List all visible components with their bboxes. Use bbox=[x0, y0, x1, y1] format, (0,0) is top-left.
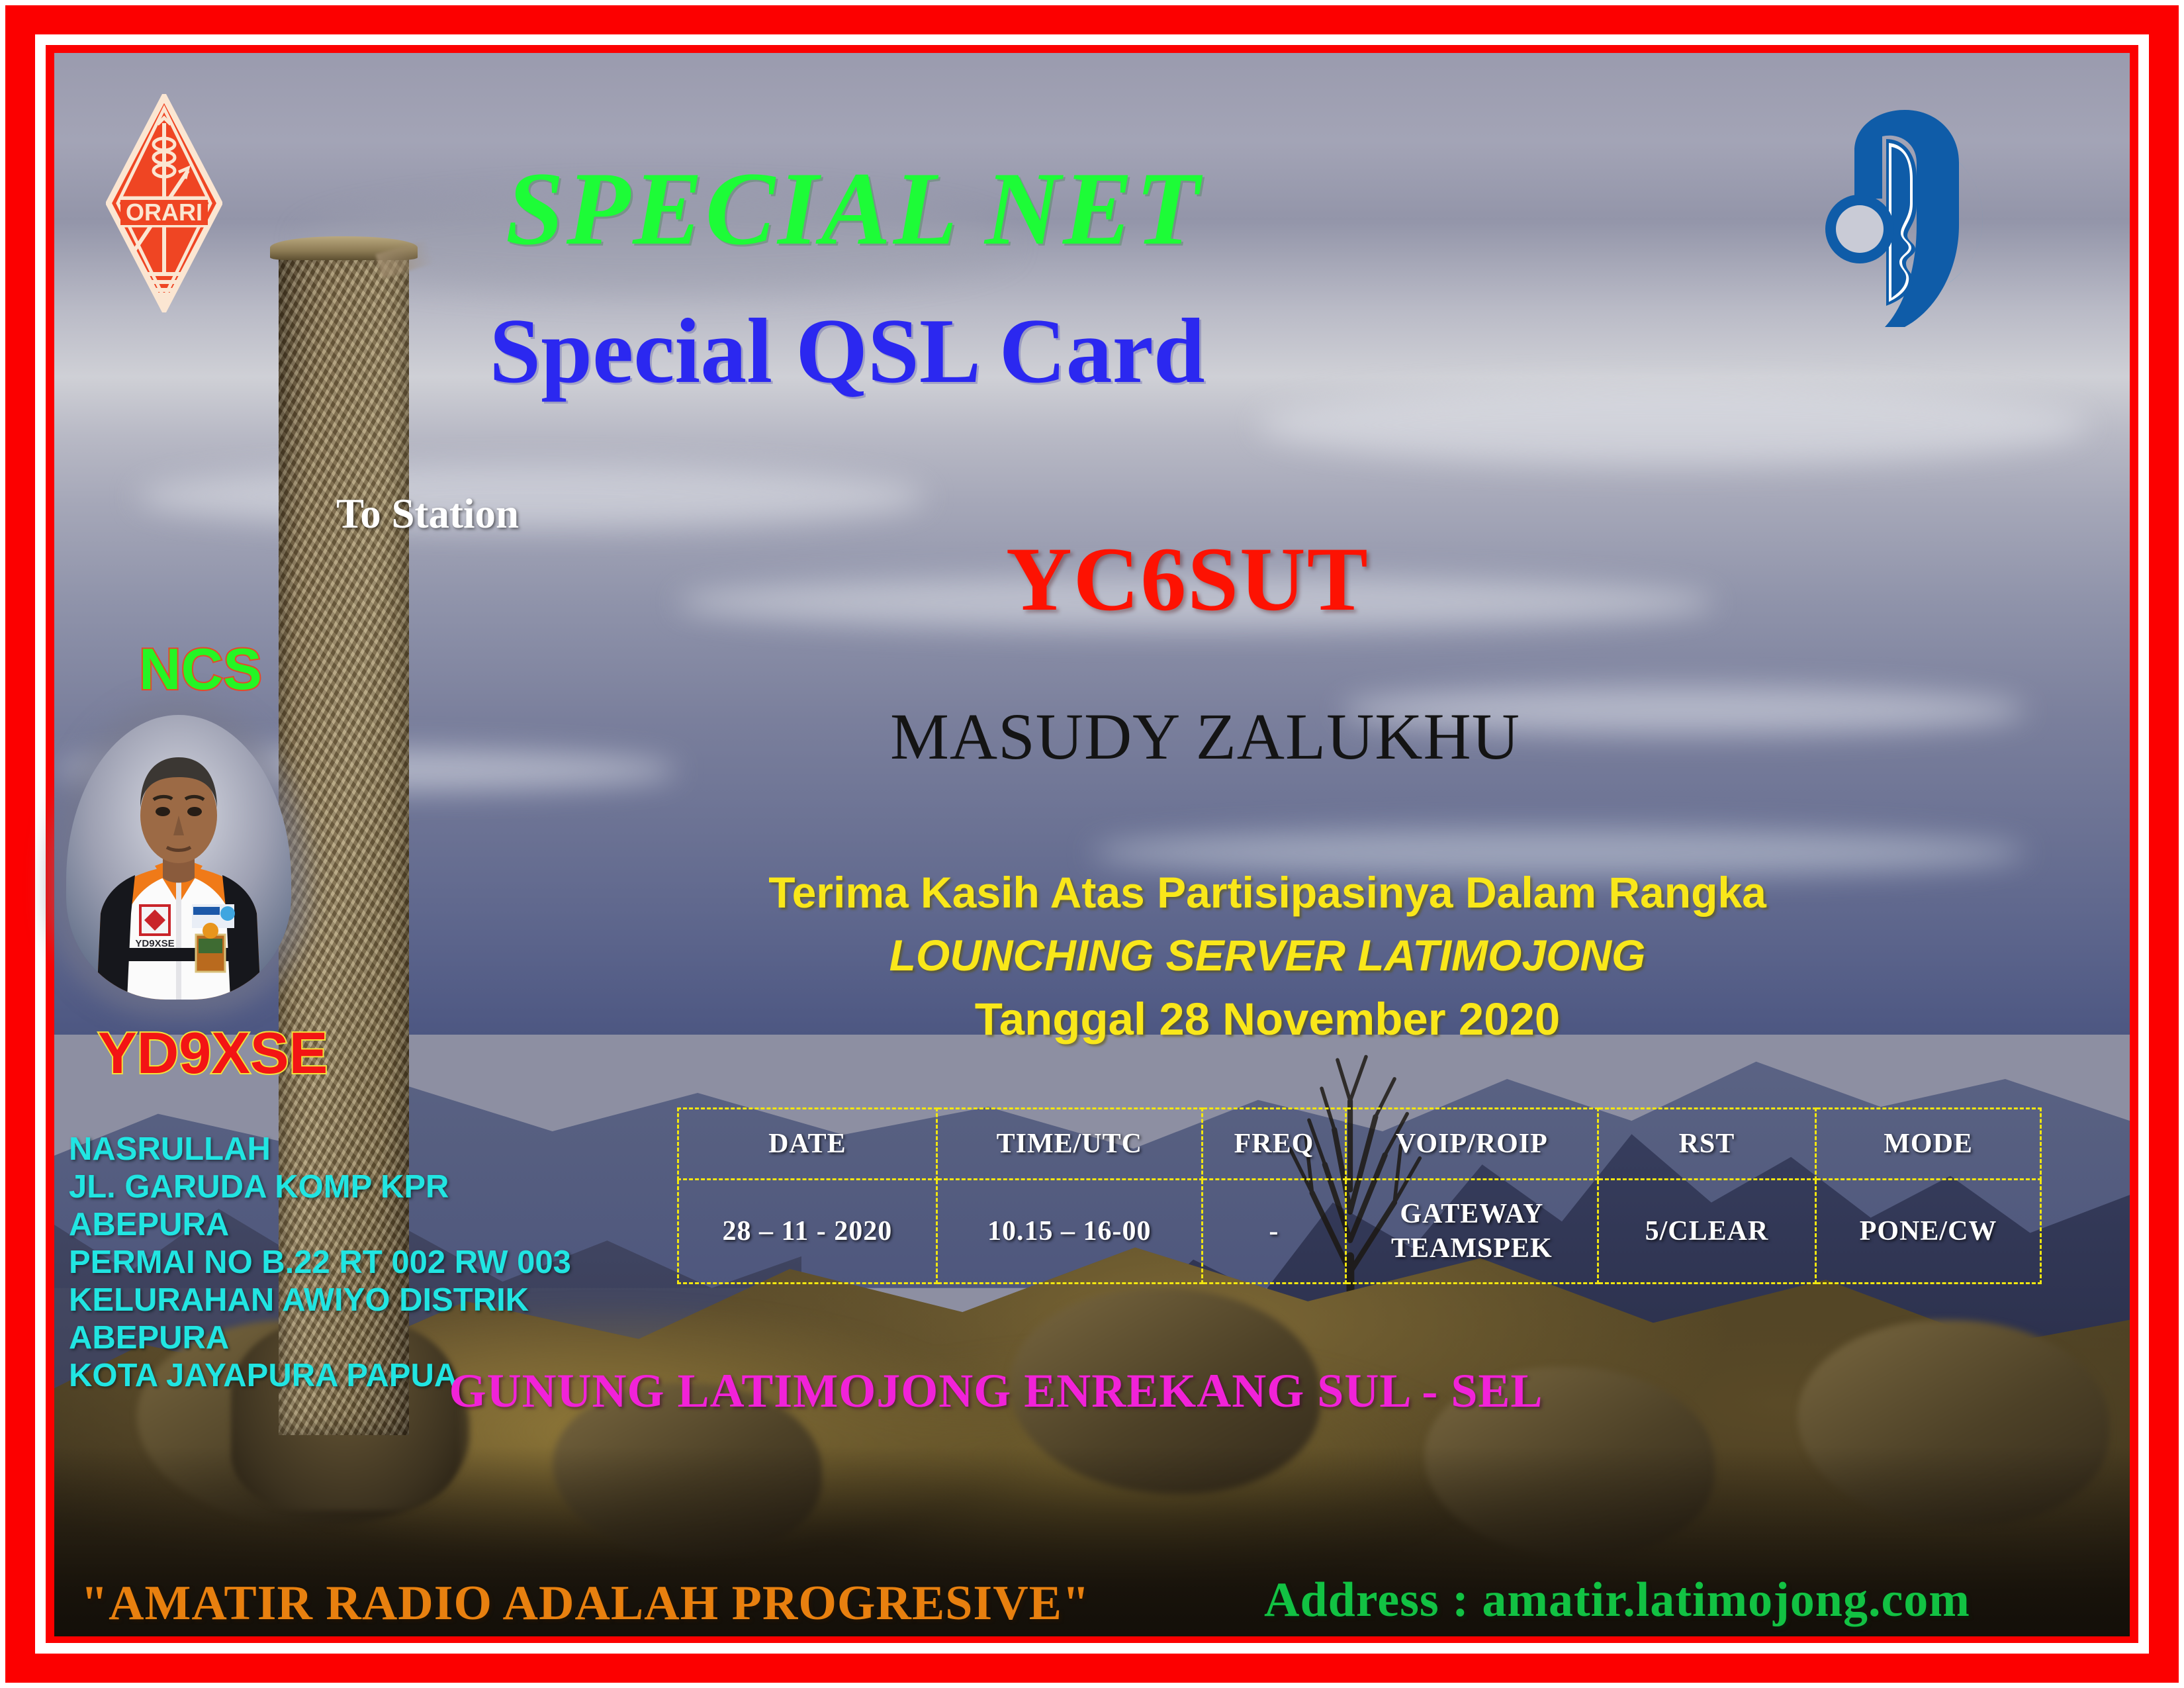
cell-voip-roip: GATEWAY TEAMSPEK bbox=[1346, 1180, 1598, 1284]
to-station-label: To Station bbox=[336, 490, 519, 538]
column-header-date: DATE bbox=[678, 1109, 937, 1180]
table-row: 28 – 11 - 2020 10.15 – 16-00 - GATEWAY T… bbox=[678, 1180, 2041, 1284]
address-line: PERMAI NO B.22 RT 002 RW 003 bbox=[69, 1244, 571, 1282]
address-line: NASRULLAH bbox=[69, 1131, 571, 1168]
event-date-line: Tanggal 28 November 2020 bbox=[175, 993, 2184, 1045]
address-line: JL. GARUDA KOMP KPR bbox=[69, 1168, 571, 1206]
cell-date: 28 – 11 - 2020 bbox=[678, 1180, 937, 1284]
ncs-label: NCS bbox=[139, 635, 262, 703]
column-header-freq: FREQ bbox=[1202, 1109, 1345, 1180]
cell-freq: - bbox=[1202, 1180, 1345, 1284]
address-line: ABEPURA bbox=[69, 1206, 571, 1244]
column-header-voip-roip: VOIP/ROIP bbox=[1346, 1109, 1598, 1180]
column-header-mode: MODE bbox=[1816, 1109, 2041, 1180]
cell-voip-roip-line1: GATEWAY bbox=[1400, 1199, 1543, 1229]
footer-website: Address : amatir.latimojong.com bbox=[1264, 1572, 1970, 1628]
qsl-card: ORARI bbox=[0, 0, 2184, 1688]
cell-time-utc: 10.15 – 16-00 bbox=[936, 1180, 1202, 1284]
table-header-row: DATE TIME/UTC FREQ VOIP/ROIP RST MODE bbox=[678, 1109, 2041, 1180]
cell-voip-roip-line2: TEAMSPEK bbox=[1391, 1233, 1553, 1264]
cloud-streak bbox=[137, 465, 926, 528]
address-line: ABEPURA bbox=[69, 1319, 571, 1357]
operator-name: MASUDY ZALUKHU bbox=[890, 698, 1520, 774]
page-subtitle: Special QSL Card bbox=[0, 298, 1939, 404]
cell-rst: 5/CLEAR bbox=[1598, 1180, 1816, 1284]
qso-log-table: DATE TIME/UTC FREQ VOIP/ROIP RST MODE 28… bbox=[677, 1107, 2042, 1284]
address-line: KELURAHAN AWIYO DISTRIK bbox=[69, 1282, 571, 1319]
thanks-line: Terima Kasih Atas Partisipasinya Dalam R… bbox=[175, 867, 2184, 917]
location-caption: GUNUNG LATIMOJONG ENREKANG SUL - SEL bbox=[0, 1364, 2088, 1419]
ncs-address-block: NASRULLAH JL. GARUDA KOMP KPR ABEPURA PE… bbox=[69, 1131, 571, 1395]
page-title: SPECIAL NET bbox=[0, 149, 1946, 269]
station-callsign: YC6SUT bbox=[1006, 526, 1369, 632]
event-launch-line: LOUNCHING SERVER LATIMOJONG bbox=[175, 930, 2184, 980]
column-header-rst: RST bbox=[1598, 1109, 1816, 1180]
uniform-callsign-text: YD9XSE bbox=[135, 938, 174, 949]
footer-slogan: "AMATIR RADIO ADALAH PROGRESIVE" bbox=[81, 1575, 1090, 1632]
column-header-time-utc: TIME/UTC bbox=[936, 1109, 1202, 1180]
cell-mode: PONE/CW bbox=[1816, 1180, 2041, 1284]
